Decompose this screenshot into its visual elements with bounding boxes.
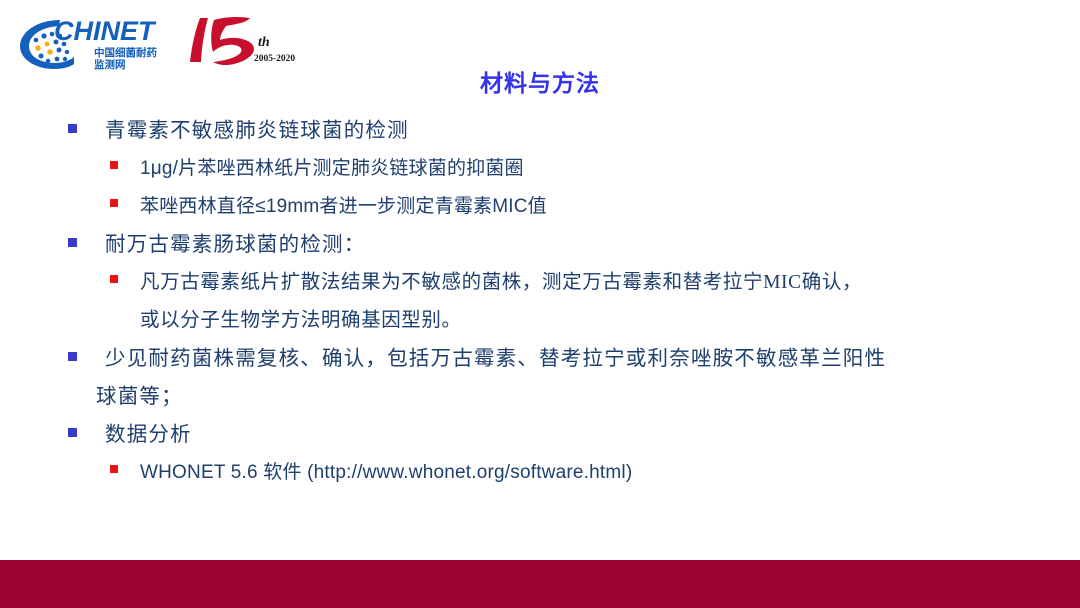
slide-canvas: CHINET 中国细菌耐药 监测网 th 2005-2020 材料与方法 青霉素… [0, 0, 1080, 608]
list-item: 1μg/片苯唑西林纸片测定肺炎链球菌的抑菌圈 [0, 150, 1080, 188]
list-item-text: 耐万古霉素肠球菌的检测： [105, 226, 365, 264]
bullet-square-blue-icon [68, 238, 77, 247]
anniversary-years: 2005-2020 [254, 54, 295, 64]
list-item-text: 青霉素不敏感肺炎链球菌的检测 [105, 112, 409, 150]
list-item: 苯唑西林直径≤19mm者进一步测定青霉素MIC值 [0, 188, 1080, 226]
list-item-text: 球菌等； [96, 378, 183, 416]
chinet-wordmark: CHINET [54, 16, 157, 46]
list-item: 耐万古霉素肠球菌的检测： [0, 226, 1080, 264]
list-item-text: WHONET 5.6 软件 (http://www.whonet.org/sof… [140, 454, 632, 492]
page-title: 材料与方法 [0, 64, 1080, 98]
list-item-text: 1μg/片苯唑西林纸片测定肺炎链球菌的抑菌圈 [140, 150, 524, 188]
bullet-square-red-icon [110, 465, 118, 473]
bullet-square-red-icon [110, 161, 118, 169]
bullet-square-red-icon [110, 199, 118, 207]
list-item-text: 苯唑西林直径≤19mm者进一步测定青霉素MIC值 [140, 188, 547, 226]
bullet-square-blue-icon [68, 352, 77, 361]
list-item: WHONET 5.6 软件 (http://www.whonet.org/sof… [0, 454, 1080, 492]
bullet-square-blue-icon [68, 428, 77, 437]
list-item-continuation: 球菌等； [0, 378, 1080, 416]
bullet-square-red-icon [110, 275, 118, 283]
footer-band [0, 560, 1080, 608]
list-item-text: 少见耐药菌株需复核、确认，包括万古霉素、替考拉宁或利奈唑胺不敏感革兰阳性 [105, 340, 886, 378]
list-item: 数据分析 [0, 416, 1080, 454]
list-item: 凡万古霉素纸片扩散法结果为不敏感的菌株，测定万古霉素和替考拉宁MIC确认， [0, 264, 1080, 302]
chinet-subtitle-line1: 中国细菌耐药 [94, 46, 157, 59]
list-item-text: 或以分子生物学方法明确基因型别。 [140, 302, 462, 340]
list-item-text: 数据分析 [105, 416, 192, 454]
anniversary-ordinal: th [258, 35, 270, 50]
list-item-text: 凡万古霉素纸片扩散法结果为不敏感的菌株，测定万古霉素和替考拉宁MIC确认， [140, 264, 862, 302]
bullet-square-blue-icon [68, 124, 77, 133]
content-list: 青霉素不敏感肺炎链球菌的检测 1μg/片苯唑西林纸片测定肺炎链球菌的抑菌圈 苯唑… [0, 112, 1080, 552]
list-item: 少见耐药菌株需复核、确认，包括万古霉素、替考拉宁或利奈唑胺不敏感革兰阳性 [0, 340, 1080, 378]
list-item-continuation: 或以分子生物学方法明确基因型别。 [0, 302, 1080, 340]
list-item: 青霉素不敏感肺炎链球菌的检测 [0, 112, 1080, 150]
